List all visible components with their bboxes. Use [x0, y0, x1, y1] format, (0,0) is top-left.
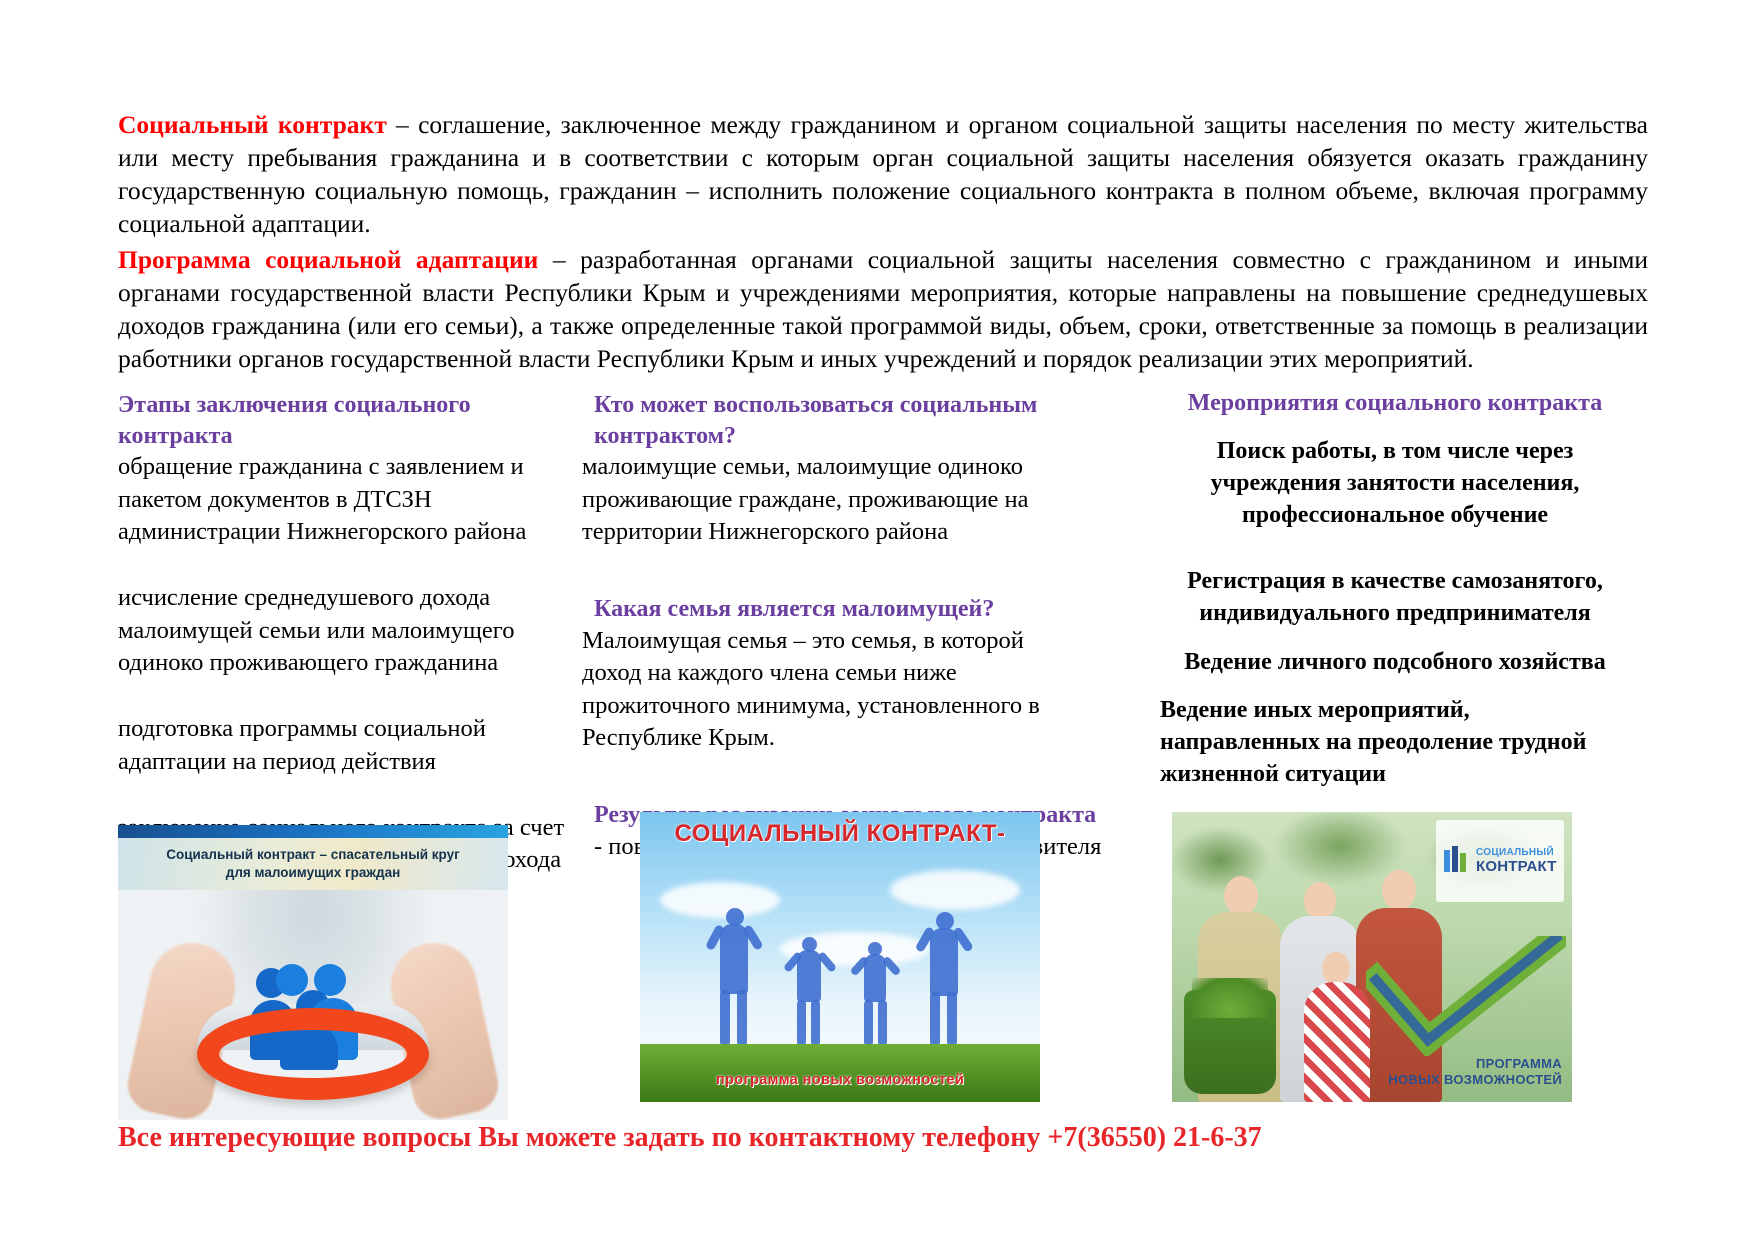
- intro-section: Социальный контракт – соглашение, заключ…: [118, 108, 1648, 375]
- cloud: [660, 882, 780, 918]
- silhouette-leg: [797, 1000, 806, 1046]
- spacer: [118, 548, 538, 582]
- image2-title: СОЦИАЛЬНЫЙ КОНТРАКТ-: [640, 820, 1040, 848]
- image3-band: ПРОГРАММА НОВЫХ ВОЗМОЖНОСТЕЙ: [1388, 1056, 1568, 1096]
- measure-item-2: Регистрация в качестве самозанятого, инд…: [1160, 565, 1630, 629]
- image-family-harvest: СОЦИАЛЬНЫЙ КОНТРАКТ ПРОГРАММА НОВЫХ ВОЗМ…: [1172, 812, 1572, 1102]
- logo-line2: КОНТРАКТ: [1476, 858, 1557, 875]
- social-contract-logo: СОЦИАЛЬНЫЙ КОНТРАКТ: [1436, 820, 1564, 902]
- measure-item-3: Ведение личного подсобного хозяйства: [1160, 646, 1630, 678]
- face-woman-left: [1224, 876, 1258, 916]
- check-mark-graphic: [1366, 936, 1566, 1056]
- definition-adaptation-program: Программа социальной адаптации – разрабо…: [118, 243, 1648, 376]
- logo-line1: СОЦИАЛЬНЫЙ: [1476, 847, 1557, 859]
- image3-band-line2: НОВЫХ ВОЗМОЖНОСТЕЙ: [1388, 1072, 1562, 1088]
- image-jumping-family: СОЦИАЛЬНЫЙ КОНТРАКТ- программа новых воз…: [640, 812, 1040, 1102]
- person-girl-apron: [1304, 982, 1370, 1102]
- spacer: [1160, 419, 1630, 435]
- document-page: Социальный контракт – соглашение, заключ…: [0, 0, 1755, 1240]
- definition-social-contract-lead: Социальный контракт: [118, 110, 387, 139]
- lifebuoy-ring: [197, 1008, 429, 1100]
- silhouette-leg: [930, 992, 940, 1046]
- contact-footer: Все интересующие вопросы Вы можете задат…: [118, 1122, 1638, 1154]
- low-income-heading: Какая семья является малоимущей?: [582, 594, 1082, 625]
- silhouette-leg: [720, 990, 730, 1046]
- person-head: [276, 964, 308, 996]
- cloud: [890, 870, 1020, 910]
- silhouette-leg: [878, 1000, 887, 1046]
- column-measures: Мероприятия социального контракта Поиск …: [1160, 388, 1630, 790]
- silhouette-leg: [737, 990, 747, 1046]
- definition-social-contract: Социальный контракт – соглашение, заключ…: [118, 108, 1648, 241]
- silhouette-torso: [720, 924, 748, 994]
- column-eligibility: Кто может воспользоваться социальным кон…: [582, 390, 1082, 864]
- low-income-body: Малоимущая семья – это семья, в которой …: [582, 625, 1082, 754]
- spacer: [582, 548, 1082, 594]
- spacer: [1160, 531, 1630, 565]
- logo-mark-icon: [1442, 844, 1472, 878]
- stage-item-1: обращение гражданина с заявлением и паке…: [118, 451, 538, 548]
- spacer: [118, 778, 538, 812]
- image1-banner: Социальный контракт – спасательный круг …: [118, 838, 508, 890]
- spacer: [1160, 630, 1630, 646]
- silhouette-leg: [864, 1000, 873, 1046]
- face-girl: [1322, 952, 1350, 985]
- image1-banner-line2: для малоимущих граждан: [226, 864, 400, 882]
- face-woman-middle: [1304, 882, 1336, 920]
- image1-top-bar: [118, 825, 508, 838]
- definition-adaptation-program-lead: Программа социальной адаптации: [118, 245, 538, 274]
- image-hands-lifebuoy: Социальный контракт – спасательный круг …: [118, 825, 508, 1120]
- logo-text: СОЦИАЛЬНЫЙ КОНТРАКТ: [1476, 847, 1557, 876]
- image1-photo-area: [118, 890, 508, 1120]
- measure-item-1: Поиск работы, в том числе через учрежден…: [1160, 435, 1630, 531]
- column-stages-heading: Этапы заключения социального контракта: [118, 390, 538, 451]
- face-man: [1382, 870, 1416, 910]
- silhouette-torso: [930, 928, 958, 996]
- spacer: [582, 754, 1082, 800]
- greens-leaves: [1192, 978, 1268, 1018]
- measures-heading: Мероприятия социального контракта: [1160, 388, 1630, 419]
- image3-band-line1: ПРОГРАММА: [1388, 1056, 1562, 1072]
- measure-item-4: Ведение иных мероприятий, направленных н…: [1160, 694, 1630, 790]
- silhouette-leg: [811, 1000, 820, 1046]
- image1-banner-line1: Социальный контракт – спасательный круг: [166, 846, 459, 864]
- eligibility-body: малоимущие семьи, малоимущие одиноко про…: [582, 451, 1082, 548]
- eligibility-heading: Кто может воспользоваться социальным кон…: [582, 390, 1082, 451]
- image2-subtitle: программа новых возможностей: [640, 1072, 1040, 1088]
- spacer: [1160, 678, 1630, 694]
- spacer: [118, 679, 538, 713]
- stage-item-2: исчисление среднедушевого дохода малоиму…: [118, 582, 538, 679]
- silhouette-leg: [947, 992, 957, 1046]
- column-stages: Этапы заключения социального контракта о…: [118, 390, 538, 877]
- stage-item-3: подготовка программы социальной адаптаци…: [118, 713, 538, 778]
